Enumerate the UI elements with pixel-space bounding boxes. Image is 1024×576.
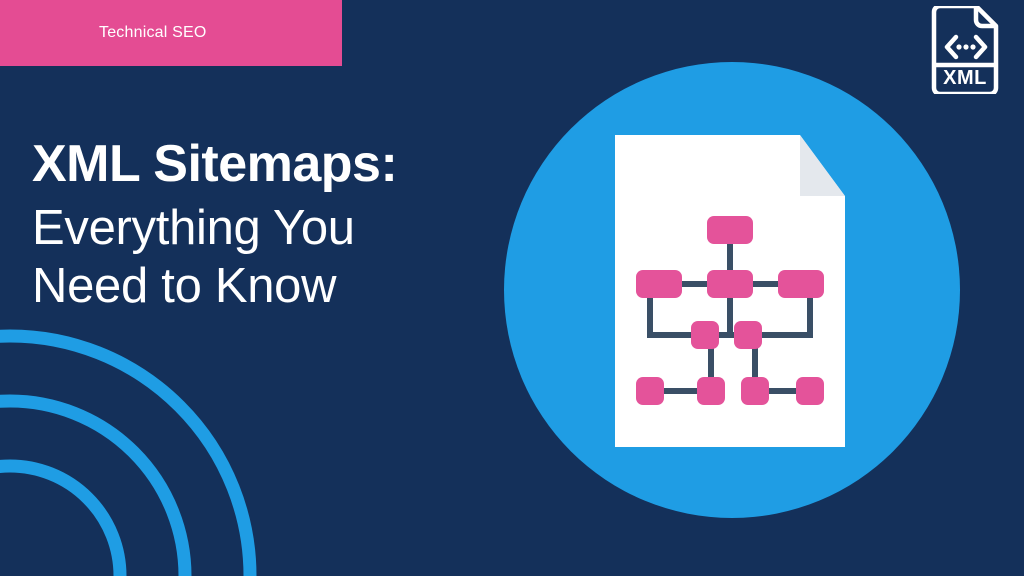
- category-badge: Technical SEO: [0, 0, 342, 66]
- xml-file-icon: XML: [928, 6, 1002, 94]
- sitemap-node-l3-c: [741, 377, 769, 405]
- xml-code-ellipsis-dots: [956, 44, 975, 49]
- sitemap-node-l3-d: [796, 377, 824, 405]
- sitemap-node-l3-b: [697, 377, 725, 405]
- sitemap-node-l1-b: [707, 270, 753, 298]
- sitemap-connectors: [650, 244, 810, 391]
- sitemap-node-root: [707, 216, 753, 244]
- sitemap-node-l1-a: [636, 270, 682, 298]
- category-badge-label: Technical SEO: [99, 24, 207, 42]
- arc-ring-outer: [0, 336, 250, 576]
- slide-canvas: Technical SEO XML Sitemaps: Everything Y…: [0, 0, 1024, 576]
- sitemap-node-l3-a: [636, 377, 664, 405]
- headline-subtitle-line-1: Everything You: [32, 200, 502, 258]
- sitemap-node-l2-b: [734, 321, 762, 349]
- headline-subtitle-line-2: Need to Know: [32, 258, 502, 316]
- headline-title: XML Sitemaps:: [32, 136, 502, 192]
- arc-ring-middle: [0, 401, 185, 576]
- sitemap-node-l2-a: [691, 321, 719, 349]
- connector-l1c-elbow-to-l3c: [755, 298, 810, 377]
- sitemap-hierarchy-diagram: [615, 135, 845, 447]
- sitemap-node-l1-c: [778, 270, 824, 298]
- headline-block: XML Sitemaps: Everything You Need to Kno…: [32, 136, 502, 316]
- xml-label-text: XML: [943, 67, 987, 89]
- xml-code-bracket-left: [947, 37, 956, 57]
- arc-ring-inner: [0, 466, 120, 576]
- xml-code-bracket-right: [976, 37, 985, 57]
- document-page: [615, 135, 845, 447]
- decorative-arc-rings: [0, 296, 420, 576]
